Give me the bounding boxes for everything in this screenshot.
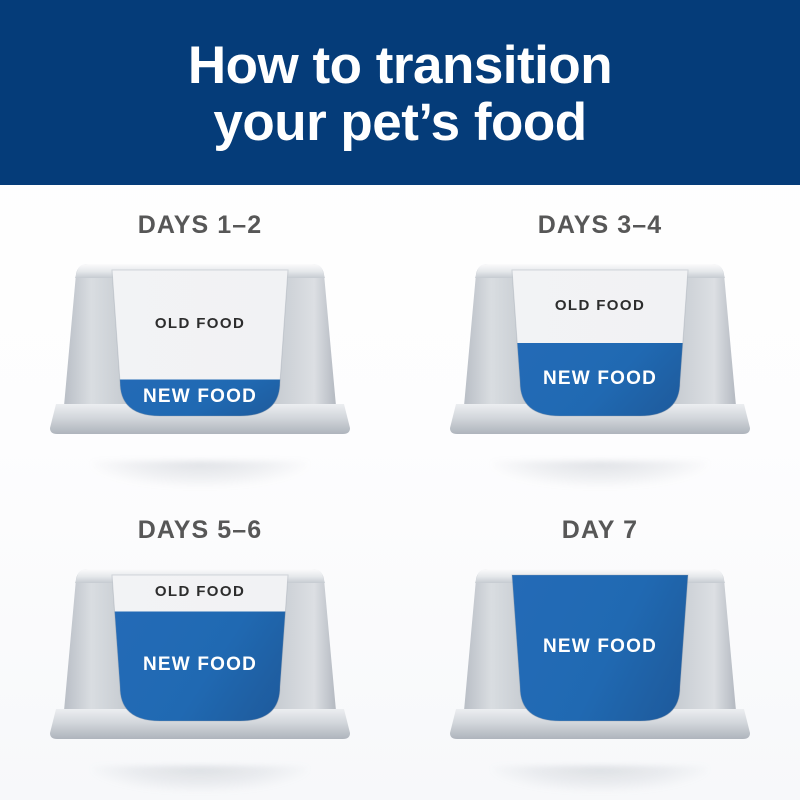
bowl-illustration-1: OLD FOODNEW FOOD: [50, 256, 350, 471]
bowl-graphic: [50, 561, 350, 776]
step-heading-4: DAY 7: [562, 518, 638, 543]
step-card-1: DAYS 1–2: [0, 185, 400, 490]
step-card-4: DAY 7: [400, 490, 800, 800]
step-heading-1: DAYS 1–2: [138, 213, 263, 238]
infographic-page: How to transition your pet’s food DAYS 1…: [0, 0, 800, 800]
step-card-2: DAYS 3–4: [400, 185, 800, 490]
step-heading-3: DAYS 5–6: [138, 518, 263, 543]
step-heading-2: DAYS 3–4: [538, 213, 663, 238]
bowl-graphic: [50, 256, 350, 471]
bowl-illustration-4: NEW FOOD: [450, 561, 750, 776]
bowl-illustration-3: OLD FOODNEW FOOD: [50, 561, 350, 776]
page-title-line-1: How to transition: [188, 39, 612, 93]
steps-grid: DAYS 1–2: [0, 185, 800, 800]
bowl-graphic: [450, 561, 750, 776]
step-card-3: DAYS 5–6: [0, 490, 400, 800]
page-title-line-2: your pet’s food: [213, 96, 586, 150]
bowl-illustration-2: OLD FOODNEW FOOD: [450, 256, 750, 471]
header-banner: How to transition your pet’s food: [0, 0, 800, 185]
bowl-graphic: [450, 256, 750, 471]
